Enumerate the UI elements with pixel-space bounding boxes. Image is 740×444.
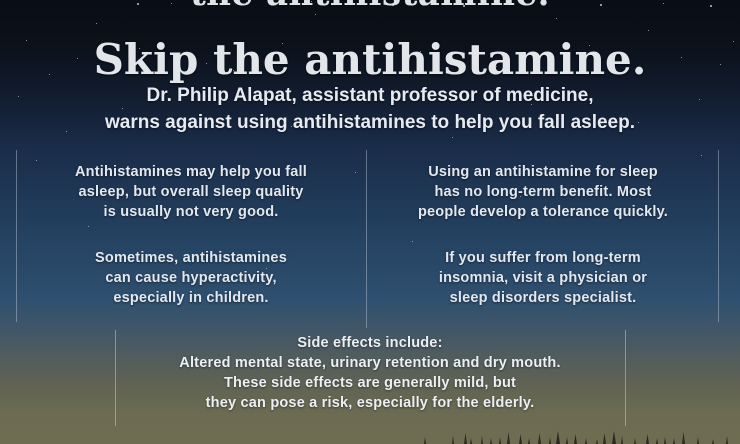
fact-bottom-right: If you suffer from long-term insomnia, v…	[378, 248, 708, 308]
subtitle: Dr. Philip Alapat, assistant professor o…	[20, 82, 720, 136]
infographic-canvas: the antihistamine. Skip the antihistamin…	[0, 0, 740, 444]
side-effects-line: they can pose a risk, especially for the…	[120, 393, 620, 413]
grass-silhouette	[0, 426, 740, 444]
clipped-top-line: the antihistamine.	[0, 0, 740, 14]
fact-line: Antihistamines may help you fall	[26, 162, 356, 182]
side-effects-line: Altered mental state, urinary retention …	[120, 353, 620, 373]
fact-grid: Antihistamines may help you fall asleep,…	[0, 148, 740, 326]
divider-left	[16, 150, 17, 322]
fact-top-left: Antihistamines may help you fall asleep,…	[26, 162, 356, 222]
divider-bottom-left	[115, 330, 116, 426]
fact-line: has no long-term benefit. Most	[378, 182, 708, 202]
fact-top-right: Using an antihistamine for sleep has no …	[378, 162, 708, 222]
divider-bottom-right	[625, 330, 626, 426]
subtitle-line-2: warns against using antihistamines to he…	[20, 109, 720, 136]
divider-right	[718, 150, 719, 322]
page-title: Skip the antihistamine.	[0, 34, 740, 86]
fact-line: Sometimes, antihistamines	[26, 248, 356, 268]
fact-line: is usually not very good.	[26, 202, 356, 222]
side-effects-block: Side effects include: Altered mental sta…	[120, 333, 620, 413]
fact-line: insomnia, visit a physician or	[378, 268, 708, 288]
side-effects-line: These side effects are generally mild, b…	[120, 373, 620, 393]
fact-bottom-left: Sometimes, antihistamines can cause hype…	[26, 248, 356, 308]
fact-line: sleep disorders specialist.	[378, 288, 708, 308]
fact-line: If you suffer from long-term	[378, 248, 708, 268]
side-effects-heading: Side effects include:	[120, 333, 620, 353]
fact-line: Using an antihistamine for sleep	[378, 162, 708, 182]
divider-center	[366, 150, 367, 328]
fact-line: especially in children.	[26, 288, 356, 308]
fact-line: can cause hyperactivity,	[26, 268, 356, 288]
subtitle-line-1: Dr. Philip Alapat, assistant professor o…	[20, 82, 720, 109]
fact-line: asleep, but overall sleep quality	[26, 182, 356, 202]
fact-line: people develop a tolerance quickly.	[378, 202, 708, 222]
